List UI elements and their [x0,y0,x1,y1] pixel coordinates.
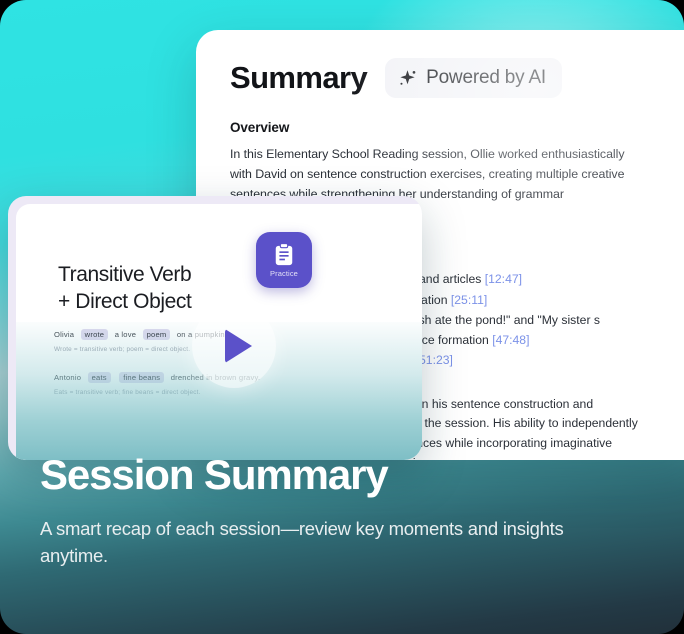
overview-label: Overview [230,120,684,135]
clipboard-icon [273,243,295,267]
sentence-verb-chip: wrote [81,329,109,340]
promo-card: Summary Powered by AI Overview In this E… [0,0,684,634]
sentence-verb-chip: eats [88,372,111,383]
play-button[interactable] [192,304,276,388]
lesson-title: Transitive Verb + Direct Object [58,262,191,316]
summary-title: Summary [230,60,367,96]
sentence-object-chip: fine beans [119,372,164,383]
lesson-card: Transitive Verb + Direct Object Practice [8,196,422,460]
practice-label: Practice [270,269,298,278]
sentence-note: Eats = transitive verb; fine beans = dir… [54,389,422,396]
footer-text-block: Session Summary A smart recap of each se… [40,452,640,570]
lesson-title-line2: + Direct Object [58,290,191,313]
sparkle-icon [398,69,417,88]
powered-by-ai-label: Powered by AI [426,67,546,89]
summary-header: Summary Powered by AI [230,58,684,98]
page-subtitle: A smart recap of each session—review key… [40,516,610,570]
play-icon [225,329,252,363]
lesson-card-inner: Transitive Verb + Direct Object Practice [16,204,422,460]
sentence-prefix: Olivia [54,330,74,339]
page-title: Session Summary [40,452,640,498]
key-moment-timestamp[interactable]: [25:11] [451,293,487,307]
sentence-mid: a love [115,330,136,339]
sentence-prefix: Antonio [54,373,81,382]
powered-by-ai-badge: Powered by AI [385,58,562,98]
sentence-object-chip: poem [143,329,171,340]
key-moment-timestamp[interactable]: [47:48] [492,333,529,347]
lesson-title-line1: Transitive Verb [58,263,191,286]
practice-badge[interactable]: Practice [256,232,312,288]
key-moment-timestamp[interactable]: [12:47] [485,272,522,286]
